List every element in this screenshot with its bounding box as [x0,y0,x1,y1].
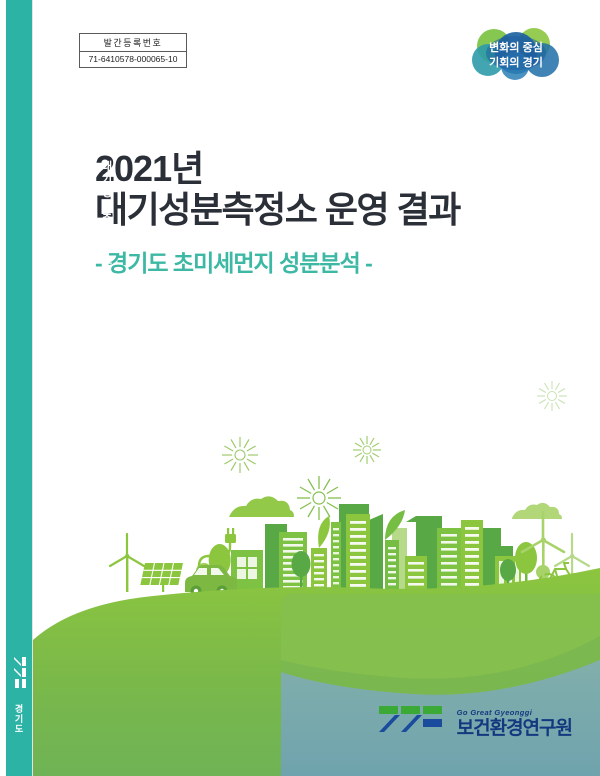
charging-plug-icon [225,528,236,543]
spine-org-label: 경기도 [13,704,26,734]
report-cover: 2021년 대기성분측정소 운영 결과 경기도 [0,0,600,776]
building-low-wide [405,556,427,592]
building-tower-e [461,520,483,592]
building-leaf-top [311,516,330,592]
registration-label: 발간등록번호 [80,34,186,52]
institute-english-name: Go Great Gyeonggi [457,708,572,717]
institute-logo: Go Great Gyeonggi 보건환경연구원 [379,704,572,738]
registration-number: 71-6410578-000065-10 [80,52,186,67]
building-tower-c [346,514,370,592]
book-spine: 2021년 대기성분측정소 운영 결과 경기도 [6,0,32,776]
slogan-blob-shapes [472,28,559,80]
spine-title: 2021년 대기성분측정소 운영 결과 [0,110,114,314]
cloud-shape [229,496,294,517]
sunburst-motif [222,437,258,473]
sunburst-motif [297,476,341,520]
gg-logo-mark-icon [379,704,451,738]
slogan-line-2: 기회의 경기 [489,55,543,69]
title-block: 2021년 대기성분측정소 운영 결과 - 경기도 초미세먼지 성분분석 - [95,148,460,278]
gyeonggi-slogan-logo: 변화의 중심 기회의 경기 [460,22,572,84]
spine-fold-line [32,0,33,776]
publication-registration-box: 발간등록번호 71-6410578-000065-10 [79,33,187,68]
wind-turbine-icon [110,534,144,592]
slogan-line-1: 변화의 중심 [489,40,543,54]
title-year: 2021년 [95,148,460,189]
building-tower-b [331,522,341,592]
cover-page: 발간등록번호 71-6410578-000065-10 변화의 중심 기회의 경… [33,0,600,776]
cover-illustration [33,0,600,776]
title-main: 대기성분측정소 운영 결과 [95,189,460,231]
solar-panel-icon [140,563,183,592]
building-tower-d [437,528,461,592]
sunburst-motif [353,436,381,464]
title-subtitle: - 경기도 초미세먼지 성분분석 - [95,244,460,278]
institute-korean-name: 보건환경연구원 [457,719,572,738]
cloud-shape [512,503,562,519]
spine-gg-mark-icon [12,657,26,691]
sunburst-motif [537,381,567,411]
